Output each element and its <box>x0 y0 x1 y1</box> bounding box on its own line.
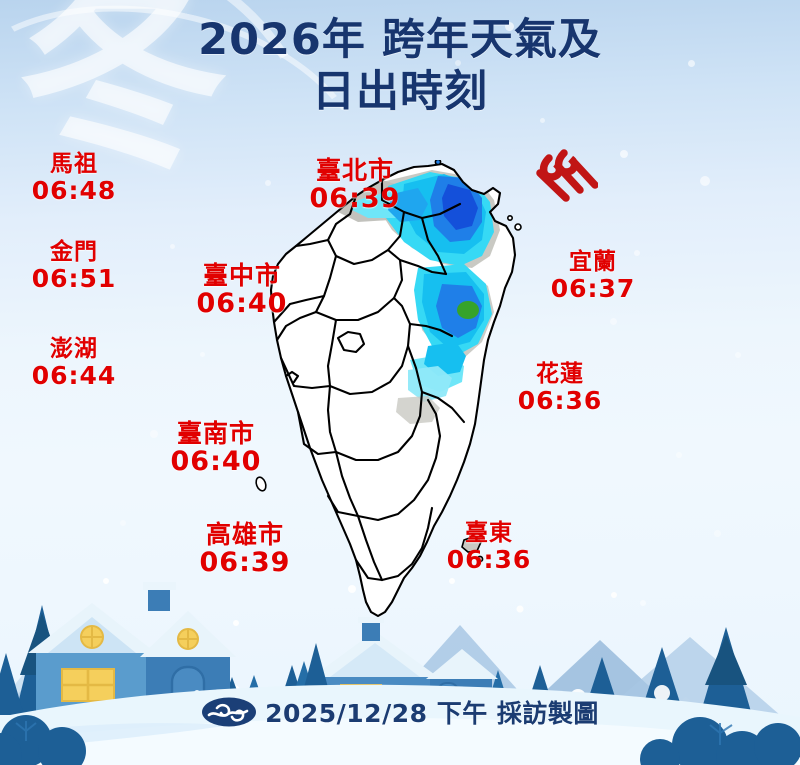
sunrise-label-taichung: 臺中市 06:40 <box>177 262 307 318</box>
city-name: 澎湖 <box>14 337 134 362</box>
city-name: 臺東 <box>430 521 548 546</box>
city-name: 臺南市 <box>151 420 281 447</box>
snow-dot <box>200 352 205 357</box>
sunrise-label-matsu: 馬祖 06:48 <box>14 152 134 204</box>
city-name: 金門 <box>14 240 134 265</box>
city-name: 宜蘭 <box>534 250 652 275</box>
title-line-2: 日出時刻 <box>0 66 800 118</box>
sunrise-time: 06:44 <box>14 362 134 389</box>
sunrise-time: 06:36 <box>501 387 619 414</box>
snow-dot <box>676 452 682 458</box>
cwa-wave-logo-icon <box>201 696 257 728</box>
city-name: 臺北市 <box>290 157 420 184</box>
sunrise-label-penghu: 澎湖 06:44 <box>14 337 134 389</box>
sunrise-time: 06:51 <box>14 265 134 292</box>
snow-dot <box>700 176 710 186</box>
city-name: 臺中市 <box>177 262 307 289</box>
wind-strong-icon <box>536 146 598 204</box>
sunrise-label-hualien: 花蓮 06:36 <box>501 362 619 414</box>
city-name: 花蓮 <box>501 362 619 387</box>
city-name: 高雄市 <box>180 521 310 548</box>
winter-scene-illustration <box>0 565 800 765</box>
sunrise-label-taipei: 臺北市 06:39 <box>290 157 420 213</box>
snow-dot <box>170 244 175 249</box>
sunrise-time: 06:40 <box>177 289 307 318</box>
page-title: 2026年 跨年天氣及 日出時刻 <box>0 14 800 118</box>
city-name: 馬祖 <box>14 152 134 177</box>
sunrise-label-tainan: 臺南市 06:40 <box>151 420 281 476</box>
snow-dot <box>120 520 126 526</box>
snow-dot <box>540 118 545 123</box>
sunrise-label-kinmen: 金門 06:51 <box>14 240 134 292</box>
sunrise-label-yilan: 宜蘭 06:37 <box>534 250 652 302</box>
snow-dot <box>714 530 721 537</box>
sunrise-time: 06:40 <box>151 447 281 476</box>
snow-dot <box>610 318 617 325</box>
title-line-1: 2026年 跨年天氣及 <box>198 15 602 65</box>
sunrise-time: 06:48 <box>14 177 134 204</box>
snow-dot <box>620 150 628 158</box>
snow-dot <box>735 352 741 358</box>
weather-poster: 冬 2026年 跨年天氣及 日出時刻 <box>0 0 800 765</box>
footer-credit: 2025/12/28 下午 採訪製圖 <box>0 694 800 730</box>
sunrise-time: 06:37 <box>534 275 652 302</box>
sunrise-time: 06:39 <box>290 184 420 213</box>
footer-text: 2025/12/28 下午 採訪製圖 <box>265 694 599 730</box>
